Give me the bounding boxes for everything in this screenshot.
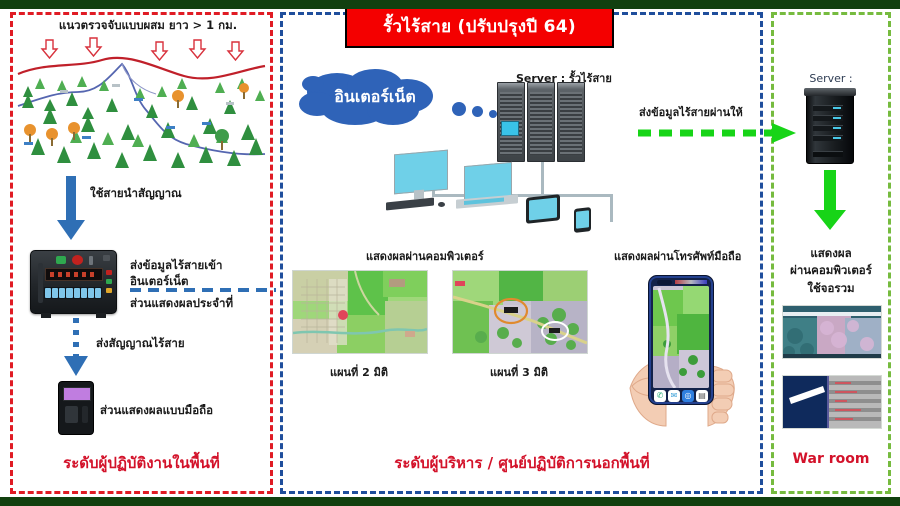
wireless-signal-label: ส่งสัญญาณไร้สาย (96, 336, 185, 352)
top-green-band (0, 0, 900, 9)
bottom-green-band (0, 497, 900, 506)
diagram-canvas: รั้วไร้สาย (ปรับปรุงปี 64) แนวตรวจจับแบบ… (0, 0, 900, 506)
phone-message-icon[interactable]: ✉ (668, 390, 680, 402)
map-2d-label: แผนที่ 2 มิติ (292, 366, 426, 381)
title-banner: รั้วไร้สาย (ปรับปรุงปี 64) (345, 4, 614, 48)
handheld-display-device (58, 381, 94, 435)
phone-camera-notch (657, 280, 672, 285)
fixed-display-label: ส่วนแสดงผลประจำที่ (130, 296, 233, 312)
map-3d-label: แผนที่ 3 มิติ (452, 366, 586, 381)
phone-map-screen (653, 286, 709, 388)
computer-display-label: แสดงผลผ่านคอมพิวเตอร์ (366, 250, 484, 265)
left-panel-footer: ระดับผู้ปฏิบัติงานในพื้นที่ (14, 451, 269, 475)
mid-panel-footer: ระดับผู้บริหาร / ศูนย์ปฏิบัติการนอกพื้นท… (284, 451, 760, 475)
net-cable-3 (610, 194, 613, 222)
keyboard-icon (386, 197, 434, 210)
detection-line-header: แนวตรวจจับแบบผสม ยาว > 1 กม. (34, 18, 262, 34)
phone-gallery-icon[interactable]: ▤ (696, 390, 708, 402)
signal-cable-label: ใช้สายนำสัญญาณ (90, 186, 182, 202)
right-panel-footer: War room (771, 451, 891, 467)
cloud-trail-dot-3 (489, 110, 497, 118)
wireless-signal-arrow-icon (62, 318, 92, 380)
forward-data-label: ส่งข้อมูลไร้สายผ่านให้ (639, 106, 743, 121)
map-3d-thumbnail (452, 270, 588, 354)
mobile-display-label: ส่วนแสดงผลแบบมือถือ (100, 403, 213, 419)
phone-status-bar (675, 280, 707, 284)
war-room-screen-dashboard (782, 375, 882, 429)
war-room-server-tower (806, 92, 854, 164)
title-text: รั้วไร้สาย (ปรับปรุงปี 64) (383, 13, 576, 40)
wireless-internet-label: ส่งข้อมูลไร้สายเข้า อินเตอร์เน็ต (130, 258, 260, 289)
client-devices-group (378, 150, 608, 230)
forest-map-illustration (16, 34, 267, 170)
phone-app-dock: ✆ ✉ ◎ ▤ (653, 389, 709, 402)
fixed-display-controller (30, 250, 117, 314)
cloud-trail-dot-2 (472, 106, 483, 117)
desktop-monitor-icon (394, 150, 448, 195)
phone-display-label: แสดงผลผ่านโทรศัพท์มือถือ (614, 250, 741, 265)
war-room-server-label: Server : (771, 72, 891, 87)
phone-call-icon[interactable]: ✆ (654, 390, 666, 402)
smartphone-mockup: ✆ ✉ ◎ ▤ (648, 275, 714, 405)
war-room-display-label: แสดงผล ผ่านคอมพิวเตอร์ ใช้จอรวม (775, 245, 887, 297)
internet-cloud: อินเตอร์เน็ต (295, 68, 455, 130)
phone-browser-icon[interactable]: ◎ (682, 390, 694, 402)
war-room-screen-aerial (782, 305, 882, 359)
map-2d-thumbnail (292, 270, 428, 354)
tablet-icon (526, 194, 560, 224)
internet-cloud-label: อินเตอร์เน็ต (295, 68, 455, 130)
forward-data-arrow-icon (636, 122, 801, 144)
wireless-fence-server-label: Server : รั้วไร้สาย (516, 72, 612, 87)
smartphone-icon (574, 207, 591, 233)
mouse-icon (438, 202, 445, 207)
server-to-display-arrow-icon (812, 170, 848, 232)
signal-cable-arrow-icon (56, 176, 86, 242)
